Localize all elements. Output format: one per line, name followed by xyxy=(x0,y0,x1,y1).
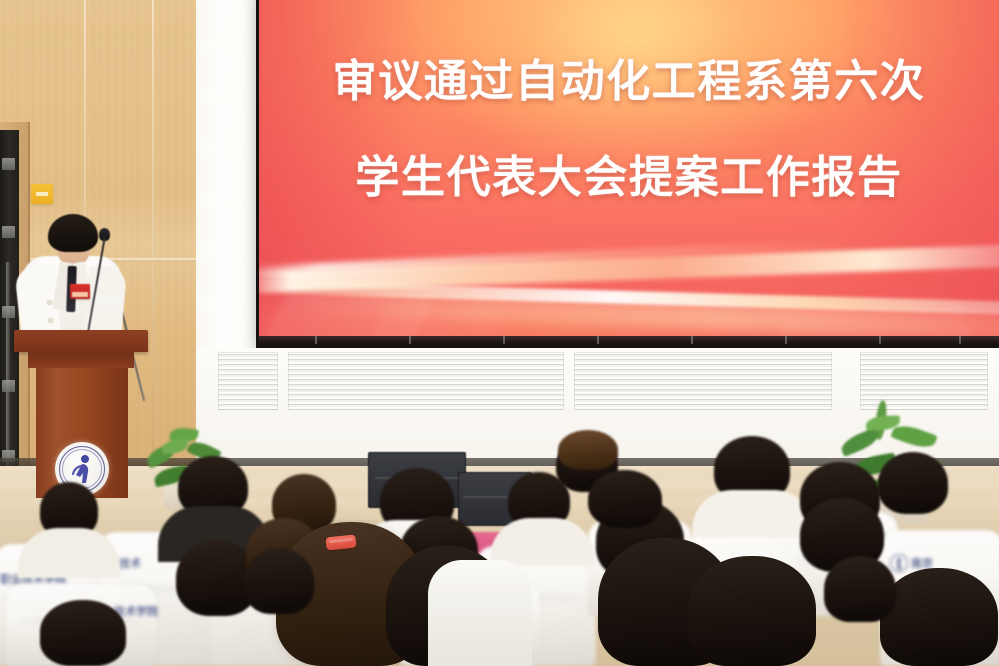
speaker-hair xyxy=(48,214,98,252)
speaking-podium xyxy=(14,330,148,498)
vent-grille xyxy=(288,352,564,410)
bezel-seam xyxy=(315,336,317,344)
vent-grille xyxy=(574,352,832,410)
bezel-seam xyxy=(785,336,787,344)
audience-shoulders xyxy=(692,490,814,538)
wood-seam xyxy=(152,0,154,466)
screen-title-block: 审议通过自动化工程系第六次 学生代表大会提案工作报告 xyxy=(259,34,999,226)
chair-emblem-icon xyxy=(890,554,908,572)
wall-sign xyxy=(31,184,53,204)
podium-top-surface xyxy=(14,330,148,352)
audience-head xyxy=(878,452,948,514)
audience-head-foreground xyxy=(688,556,816,666)
door-hinge-icon xyxy=(2,158,15,170)
screen-title-line-1: 审议通过自动化工程系第六次 xyxy=(259,34,999,130)
projection-screen: 第六次学生代表大会 审议通过自动化工程系第六次 学生代表大会提案工作报告 xyxy=(256,0,999,348)
audience-head-foreground xyxy=(880,568,998,666)
plant-leaf xyxy=(838,427,881,457)
jacket-button xyxy=(48,318,53,323)
bezel-seam xyxy=(597,336,599,344)
bezel-seam xyxy=(691,336,693,344)
screen-title-line-2: 学生代表大会提案工作报告 xyxy=(259,130,999,226)
plant-leaf xyxy=(161,439,188,454)
podium-body xyxy=(36,368,128,498)
screen-surface: 第六次学生代表大会 审议通过自动化工程系第六次 学生代表大会提案工作报告 xyxy=(259,0,999,344)
plant-leaf xyxy=(890,421,937,452)
bezel-seam xyxy=(879,336,881,344)
audience-shoulders xyxy=(428,560,532,666)
wall-sign-bar xyxy=(36,192,48,196)
screen-bottom-bezel xyxy=(259,336,999,344)
vent-grille xyxy=(218,352,278,410)
door-hinge-icon xyxy=(2,226,15,238)
door-hinge-icon xyxy=(2,306,15,318)
bezel-seam xyxy=(409,336,411,344)
badge-text-strip xyxy=(72,292,88,297)
jacket-button xyxy=(47,300,52,305)
audience-head-foreground xyxy=(40,600,126,666)
audience-head-hair xyxy=(558,430,618,470)
audience-head-foreground xyxy=(824,556,896,622)
audience-head-foreground xyxy=(244,548,314,614)
bezel-seam xyxy=(503,336,505,344)
bezel-seam xyxy=(959,336,961,344)
conference-hall-photo: 第六次学生代表大会 审议通过自动化工程系第六次 学生代表大会提案工作报告 xyxy=(0,0,999,666)
audience-head xyxy=(588,470,662,528)
speaker-badge xyxy=(70,284,90,299)
podium-neck xyxy=(28,352,134,368)
